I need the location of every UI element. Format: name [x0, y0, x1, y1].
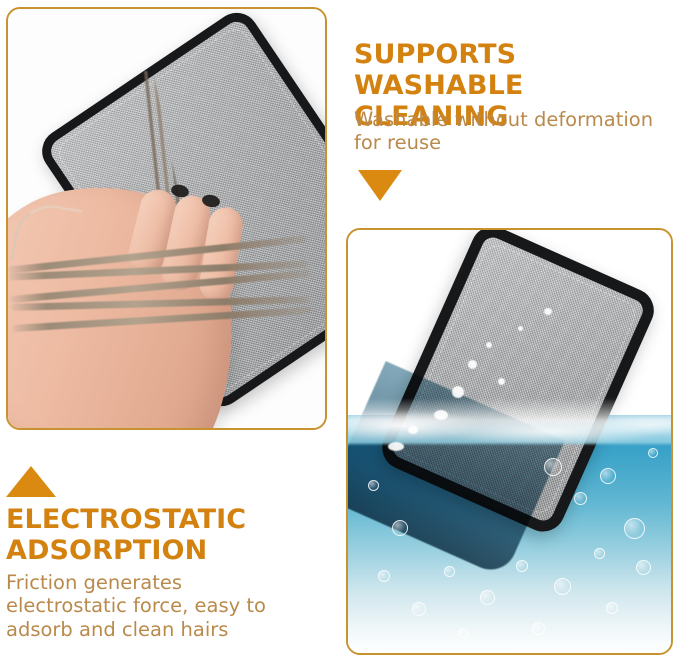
triangle-down-marker	[358, 170, 402, 201]
hand-holding-pad-with-hair-photo	[8, 9, 325, 428]
splash-droplet	[486, 342, 492, 348]
water-bubble	[544, 458, 562, 476]
water-bubble	[554, 578, 571, 595]
water-bubble	[368, 480, 379, 491]
water-bubble	[378, 570, 390, 582]
splash-droplet	[498, 378, 505, 385]
feature-subtext-electrostatic: Friction generates electrostatic force, …	[6, 571, 306, 641]
splash-droplet	[452, 386, 464, 398]
water-bubble	[636, 560, 651, 575]
water-bubble	[648, 448, 658, 458]
feature-headline-electrostatic: ELECTROSTATIC ADSORPTION	[6, 505, 326, 567]
hair-strand	[12, 307, 312, 332]
water-bubble	[444, 566, 455, 577]
splash-droplet	[468, 360, 477, 369]
water-bubble	[606, 602, 618, 614]
photo-panel-washable	[346, 228, 673, 655]
water-bubble	[594, 548, 605, 559]
water-bubble	[624, 518, 645, 539]
splash-droplet	[408, 426, 418, 434]
photo-panel-electrostatic	[6, 7, 327, 430]
water-bubble	[480, 590, 495, 605]
water-bubble	[600, 468, 616, 484]
splash-droplet	[544, 308, 552, 315]
pad-submerged-in-water-photo	[348, 230, 671, 653]
splash-droplet	[518, 326, 523, 331]
water-bubble	[412, 602, 426, 616]
water-bubble	[392, 520, 408, 536]
water-bubble	[532, 622, 545, 635]
water-bubble	[574, 492, 587, 505]
triangle-up-marker	[6, 466, 56, 497]
water-bubble	[516, 560, 528, 572]
water-bubble	[458, 628, 468, 638]
splash-droplet	[388, 442, 404, 451]
splash-droplet	[434, 410, 448, 420]
feature-subtext-washable: Washable without deformation for reuse	[354, 108, 674, 155]
water-surface-line	[348, 398, 671, 444]
